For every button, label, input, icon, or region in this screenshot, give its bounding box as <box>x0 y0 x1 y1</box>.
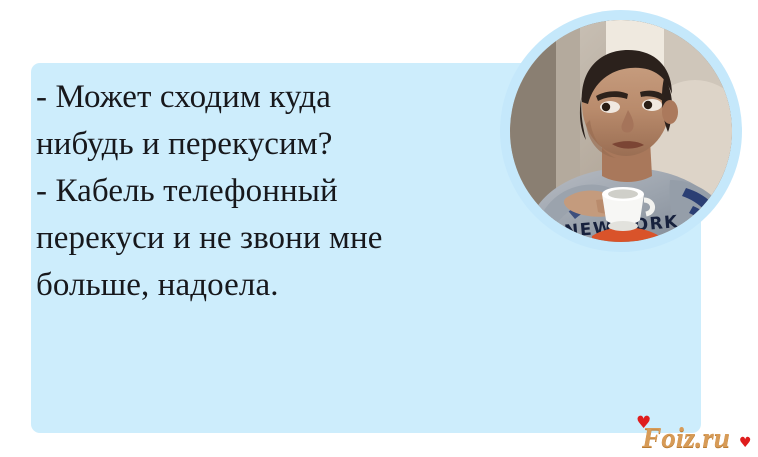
quote-text: - Может сходим куда нибудь и перекусим? … <box>36 74 536 309</box>
photo-illustration: NEW YORK <box>510 20 732 242</box>
man-with-espresso-cup-photo: NEW YORK <box>510 20 732 242</box>
foiz-ru-watermark[interactable]: ♥ Foiz.ru ♥ <box>626 414 758 457</box>
heart-icon-trailing: ♥ <box>739 436 752 450</box>
watermark-label: Foiz.ru <box>642 423 730 453</box>
meme-image: NEW YORK <box>0 0 758 457</box>
